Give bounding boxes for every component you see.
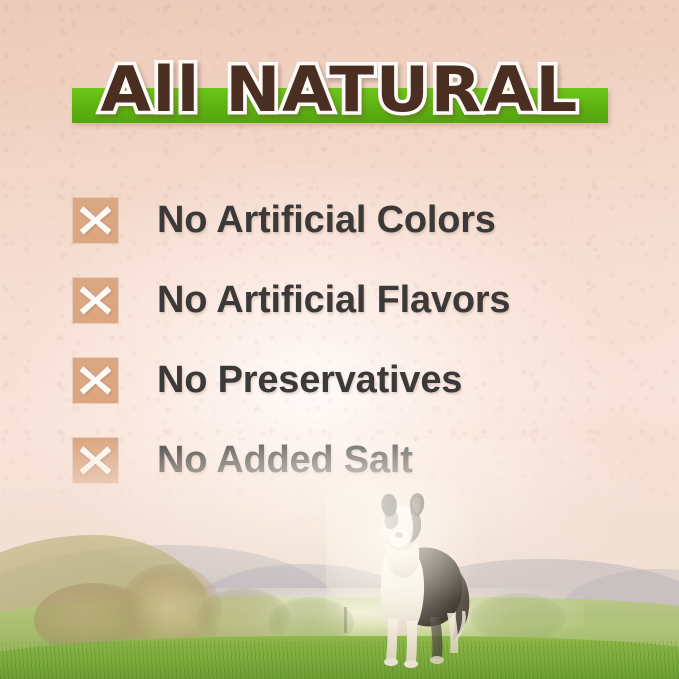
claim-row: No Preservatives [73,340,633,420]
fence-post [344,607,347,633]
landscape-photo [0,439,679,679]
claim-label: No Preservatives [157,359,462,401]
x-mark-icon [73,198,118,243]
claim-label: No Artificial Colors [157,199,496,241]
grass-texture [0,641,679,679]
x-mark-icon [73,278,118,323]
headline-banner: All NATURAL [0,52,679,138]
headline-text: All NATURAL [0,52,679,128]
claim-label: No Artificial Flavors [157,279,510,321]
claim-row: No Artificial Colors [73,180,633,260]
shrub [470,593,566,643]
product-claims-poster: All NATURAL No Artificial Colors No Arti… [0,0,679,679]
claim-row: No Artificial Flavors [73,260,633,340]
x-mark-icon [73,358,118,403]
dog-photo-subject [352,491,480,671]
